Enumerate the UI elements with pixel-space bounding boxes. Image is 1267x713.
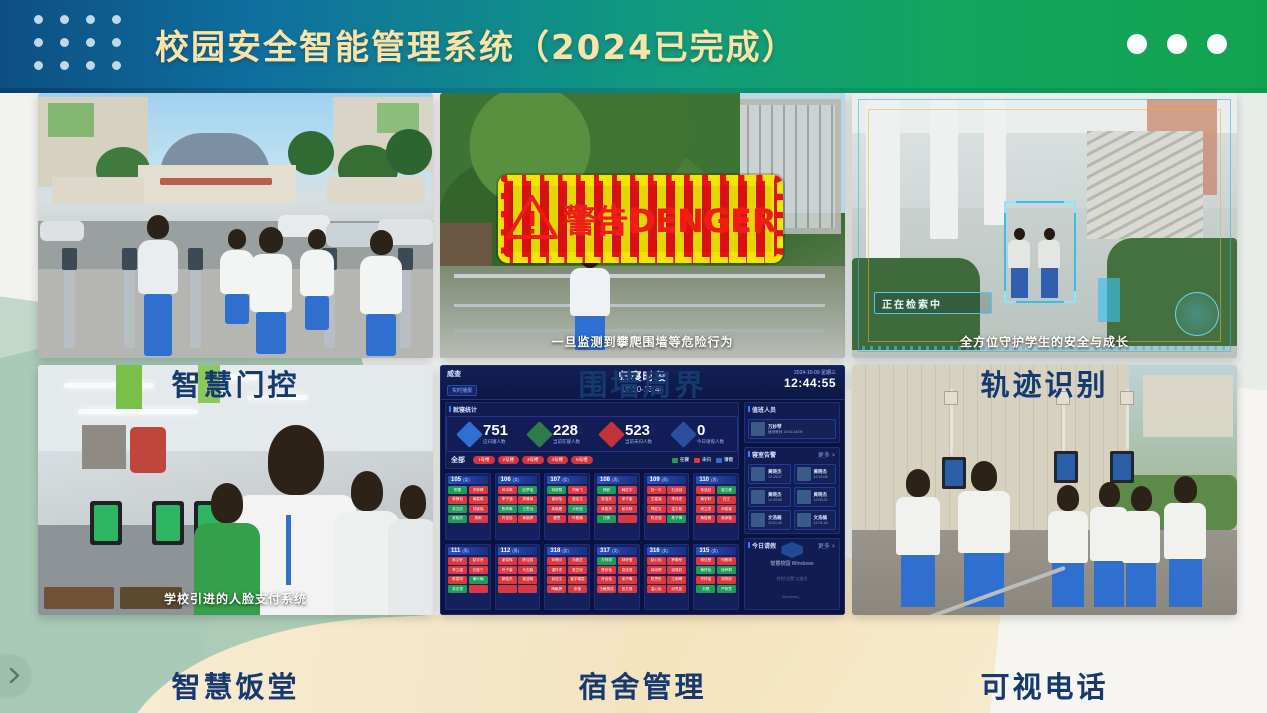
- room-unit: (男): [612, 477, 619, 482]
- dot-icon: [1207, 34, 1227, 54]
- bed-item[interactable]: 汪睿: [597, 515, 616, 523]
- bed-item[interactable]: 梁浩明: [518, 576, 537, 584]
- room-number: 106(女): [498, 476, 538, 484]
- bed-item[interactable]: 谭梓杰: [547, 566, 566, 574]
- leave-icon: [670, 421, 697, 448]
- avatar: [751, 490, 765, 504]
- bed-item[interactable]: 刘楚: [696, 585, 715, 593]
- alert-time: 12:05:32: [814, 498, 828, 502]
- bed-item[interactable]: 张一平: [647, 486, 666, 494]
- bed-item[interactable]: 石俊宁: [469, 566, 488, 574]
- bed-item[interactable]: 何雅琪: [717, 557, 736, 565]
- room-unit: (女): [513, 477, 520, 482]
- card-trajectory-recognition[interactable]: 正在检索中 全方位守护学生的安全与成长: [852, 93, 1237, 358]
- legend-label: 未归: [702, 457, 711, 463]
- legend: 在寝 未归 请假: [672, 457, 733, 463]
- bed-item[interactable]: 严梓萱: [717, 585, 736, 593]
- bed-item[interactable]: 曾宇甯霞: [568, 576, 587, 584]
- bed-item[interactable]: 许佳怡: [597, 576, 616, 584]
- bed-item[interactable]: 白江: [717, 496, 736, 504]
- warning-text: 警告DENGER: [565, 196, 777, 242]
- label-trajectory-recognition: 轨迹识别: [852, 358, 1237, 408]
- alerts-grid: 黄晓杰12:15:37黄晓杰12:15:08黄晓杰12:09:50黄晓杰12:0…: [745, 461, 839, 533]
- stat-value: 0: [697, 423, 724, 438]
- bed-item[interactable]: 朱浩然: [696, 486, 715, 494]
- filter-pill[interactable]: 1号楼: [473, 456, 495, 464]
- room-number: 110(男): [696, 476, 736, 484]
- room-card[interactable]: 316(女)赵心怡罗琳彤邱婉婷梁雅欣陈思彤江雨晴温心怡邓思蕊: [644, 544, 690, 611]
- bed-item[interactable]: 陈梓琳: [498, 505, 517, 513]
- room-number: 315(女): [696, 547, 736, 555]
- room-number: 111(男): [448, 547, 488, 555]
- alerts-panel-header: 寝室告警 更多 >: [745, 448, 839, 461]
- bed-item[interactable]: 温宇航: [667, 505, 686, 513]
- bed-item[interactable]: 朱莹: [568, 585, 587, 593]
- bed-item[interactable]: 邓倩仪: [547, 557, 566, 565]
- bed-list: 张一平石浩然王嘉诚李伟杰郑宏文温宇航陈志强蔡子锋: [647, 486, 687, 537]
- trajectory-overlay-caption: 全方位守护学生的安全与成长: [852, 333, 1237, 350]
- filter-pill[interactable]: 4号楼: [547, 456, 569, 464]
- smart-gate-photo: [38, 93, 433, 358]
- bed-item[interactable]: 林静怡: [448, 496, 467, 504]
- room-unit: (女): [562, 548, 569, 553]
- bed-item[interactable]: 张浩天: [597, 496, 616, 504]
- bed-item[interactable]: 张志恒: [448, 585, 467, 593]
- alert-time: 12:15:37: [768, 475, 782, 479]
- bed-item[interactable]: 崔文峰: [717, 486, 736, 494]
- bed-list: 邓倩仪冯雅芝谭梓杰夏芷欣彭佳文曾宇甯霞陶敏婷朱莹: [547, 557, 587, 608]
- dot-icon: [1167, 34, 1187, 54]
- bed-item[interactable]: 蔡子锋: [667, 515, 686, 523]
- bed-item[interactable]: 卢欣悦: [568, 505, 587, 513]
- bed-item[interactable]: 吴泽楷: [717, 515, 736, 523]
- bed-list: 何诗琪赵梦瑶李子涵郑雅琳陈梓琳王思远许佳怡黄婉婷: [498, 486, 538, 537]
- page-title: 校园安全智能管理系统（2024已完成）: [155, 20, 798, 69]
- alert-card[interactable]: 文浩楠12:01:18: [794, 510, 837, 530]
- room-card[interactable]: 317(女)方梓琪林梓莹曹欣怡袁佳慧许佳怡宋子琳王敏丽佳张文慧: [594, 544, 640, 611]
- stat-value: 751: [483, 423, 508, 438]
- bed-item[interactable]: 陈雪: [448, 486, 467, 494]
- bed-item[interactable]: 何诗琪: [498, 486, 517, 494]
- legend-item: 请假: [716, 457, 733, 463]
- alert-time: 12:01:18: [814, 521, 828, 525]
- room-number: 317(女): [597, 547, 637, 555]
- stat-item: 523 当前未归人数: [602, 423, 652, 445]
- alerts-header-text: 寝室告警: [752, 453, 776, 459]
- bed-item[interactable]: 孙俊豪: [717, 505, 736, 513]
- room-unit: (女): [711, 548, 718, 553]
- bed-item[interactable]: 赵梦瑶: [518, 486, 537, 494]
- bed-item[interactable]: 宋子琳: [618, 576, 637, 584]
- page-header: 校园安全智能管理系统（2024已完成）: [0, 0, 1267, 88]
- dot-icon: [1127, 34, 1147, 54]
- bed-item[interactable]: 黄梓怡: [696, 566, 715, 574]
- bed-item[interactable]: 郭俊杰: [498, 576, 517, 584]
- stat-label: 今日请假人数: [697, 439, 724, 445]
- room-number: 109(男): [647, 476, 687, 484]
- avatar: [797, 467, 811, 481]
- bed-item[interactable]: 王嘉诚: [647, 496, 666, 504]
- alerts-panel: 寝室告警 更多 > 黄晓杰12:15:37黄晓杰12:15:08黄晓杰12:09…: [744, 447, 840, 534]
- room-unit: (男): [512, 548, 519, 553]
- room-card[interactable]: 112(男)谢俊辉陈佳辰许子豪马志鹏郭俊杰梁浩明: [495, 544, 541, 611]
- room-card[interactable]: 109(男)张一平石浩然王嘉诚李伟杰郑宏文温宇航陈志强蔡子锋: [644, 473, 690, 540]
- bed-item[interactable]: 曹欣怡: [597, 566, 616, 574]
- room-card[interactable]: 106(女)何诗琪赵梦瑶李子涵郑雅琳陈梓琳王思远许佳怡黄婉婷: [495, 473, 541, 540]
- bed-item[interactable]: 刘颖瑶: [469, 505, 488, 513]
- canteen-overlay-caption: 学校引进的人脸支付系统: [38, 590, 433, 607]
- bed-item[interactable]: 李梓晴: [469, 486, 488, 494]
- wall-perimeter-overlay-caption: 一旦监测到攀爬围墙等危险行为: [440, 333, 845, 350]
- room-unit: (女): [562, 477, 569, 482]
- label-wall-perimeter: 围墙周界: [440, 358, 845, 408]
- stat-label: 当前未归人数: [625, 439, 652, 445]
- watermark-sub: 转到"设置"以激活 Windows。: [777, 576, 808, 599]
- filter-pill[interactable]: 2号楼: [498, 456, 520, 464]
- legend-label: 在寝: [680, 457, 689, 463]
- bed-list: 陈雪李梓晴林静怡黄嘉琪张文欣刘颖瑶吴晓彤周雨: [448, 486, 488, 537]
- room-number: 105(女): [448, 476, 488, 484]
- leave-panel: 今日请假 更多 > 智慧校园 Windows 转到"设置"以激活 Windows…: [744, 538, 840, 610]
- room-card[interactable]: 110(男)朱浩然崔文峰黄宇轩白江何立杰孙俊豪黄俊峰吴泽楷: [693, 473, 739, 540]
- card-smart-gate[interactable]: [38, 93, 433, 358]
- stat-item: 228 当前在寝人数: [530, 423, 580, 445]
- room-unit: (男): [662, 477, 669, 482]
- bed-item[interactable]: 彭宇轩: [618, 505, 637, 513]
- bed-list: 林佳慧何雅琪黄梓怡徐声桐齐梓瑶邓梓欣刘楚严梓萱: [696, 557, 736, 608]
- bed-item[interactable]: 叶筱楠: [568, 515, 587, 523]
- label-smart-canteen: 智慧饭堂: [38, 660, 433, 710]
- filter-pill[interactable]: 3号楼: [522, 456, 544, 464]
- room-number: 316(女): [647, 547, 687, 555]
- bed-list: 杨帆韩志宇张浩天邓子豪林俊杰彭宇轩汪睿: [597, 486, 637, 537]
- bed-item[interactable]: 黄俊峰: [696, 515, 715, 523]
- stats-panel: 就寝统计 751 应归寝人数 228: [445, 402, 739, 469]
- room-unit: (男): [462, 548, 469, 553]
- bed-item[interactable]: 江雨晴: [667, 576, 686, 584]
- bed-item[interactable]: 马志鹏: [518, 566, 537, 574]
- hud-bar: [1098, 278, 1120, 322]
- alert-card[interactable]: 黄晓杰12:09:50: [748, 487, 791, 507]
- bed-item[interactable]: 黄兴楠: [469, 576, 488, 584]
- room-card[interactable]: 105(女)陈雪李梓晴林静怡黄嘉琪张文欣刘颖瑶吴晓彤周雨: [445, 473, 491, 540]
- bed-item[interactable]: 王思远: [518, 505, 537, 513]
- bed-item[interactable]: 黄嘉琪: [469, 496, 488, 504]
- chevron-right-icon: [8, 667, 21, 684]
- bed-item[interactable]: 韩志宇: [618, 486, 637, 494]
- room-grid: 105(女)陈雪李梓晴林静怡黄嘉琪张文欣刘颖瑶吴晓彤周雨106(女)何诗琪赵梦瑶…: [445, 473, 739, 610]
- stat-item: 751 应归寝人数: [460, 423, 508, 445]
- bed-item[interactable]: 刘雨飞: [568, 486, 587, 494]
- bed-item[interactable]: 林文轩: [448, 557, 467, 565]
- room-card[interactable]: 315(女)林佳慧何雅琪黄梓怡徐声桐齐梓瑶邓梓欣刘楚严梓萱: [693, 544, 739, 611]
- room-card[interactable]: 111(男)林文轩赵宇杰李立强石俊宁陈嘉明黄兴楠张志恒: [445, 544, 491, 611]
- alert-icon: [598, 421, 625, 448]
- legend-label: 请假: [724, 457, 733, 463]
- room-card[interactable]: 318(女)邓倩仪冯雅芝谭梓杰夏芷欣彭佳文曾宇甯霞陶敏婷朱莹: [544, 544, 590, 611]
- warning-triangle-icon: [505, 193, 559, 246]
- bed-item[interactable]: 杨帆: [597, 486, 616, 494]
- bed-item[interactable]: 唐思: [547, 515, 566, 523]
- bed-list: 谢俊辉陈佳辰许子豪马志鹏郭俊杰梁浩明: [498, 557, 538, 608]
- bed-icon: [526, 421, 553, 448]
- bed-item[interactable]: 赵宇杰: [469, 557, 488, 565]
- duty-person-meta: 值班教师 13:00-18:00: [768, 430, 803, 435]
- bed-item[interactable]: 谢欣怡: [547, 496, 566, 504]
- bed-item[interactable]: 周雨: [469, 515, 488, 523]
- room-unit: (男): [711, 477, 718, 482]
- bed-list: 林妍熙刘雨飞谢欣怡庞佳文朱晓蕾卢欣悦唐思叶筱楠: [547, 486, 587, 537]
- bed-item[interactable]: 温心怡: [647, 585, 666, 593]
- legend-item: 未归: [694, 457, 711, 463]
- cube-icon: [781, 542, 803, 558]
- hud-status-box: 正在检索中: [874, 292, 992, 314]
- bed-item[interactable]: 李子涵: [498, 496, 517, 504]
- bed-item[interactable]: 陈佳辰: [518, 557, 537, 565]
- warning-banner: 警告DENGER: [498, 175, 783, 263]
- label-smart-gate: 智慧门控: [38, 358, 433, 408]
- bed-item[interactable]: 邓子豪: [618, 496, 637, 504]
- bed-item[interactable]: 王敏丽佳: [597, 585, 616, 593]
- bed-item[interactable]: 许子豪: [498, 566, 517, 574]
- bed-item[interactable]: 林佳慧: [696, 557, 715, 565]
- hud-radar-icon: [1175, 292, 1219, 336]
- room-unit: (女): [463, 477, 470, 482]
- bed-item[interactable]: 彭佳文: [547, 576, 566, 584]
- hud-status-text: 正在检索中: [882, 296, 942, 311]
- room-number: 318(女): [547, 547, 587, 555]
- bed-item[interactable]: [469, 585, 488, 593]
- bed-item[interactable]: 陈志强: [647, 515, 666, 523]
- alert-time: 12:15:08: [814, 475, 828, 479]
- bed-item[interactable]: 陈嘉明: [448, 576, 467, 584]
- stat-item: 0 今日请假人数: [674, 423, 724, 445]
- bed-item[interactable]: 庞佳文: [568, 496, 587, 504]
- bed-item[interactable]: 陈思彤: [647, 576, 666, 584]
- room-number: 107(女): [547, 476, 587, 484]
- alert-card[interactable]: 黄晓杰12:15:37: [748, 464, 791, 484]
- hud-tracking-box: [1004, 201, 1076, 303]
- stat-value: 523: [625, 423, 652, 438]
- trajectory-photo: 正在检索中 全方位守护学生的安全与成长: [852, 93, 1237, 358]
- bed-item[interactable]: 黄婉婷: [518, 515, 537, 523]
- card-wall-perimeter[interactable]: 警告DENGER 一旦监测到攀爬围墙等危险行为: [440, 93, 845, 358]
- bed-list: 赵心怡罗琳彤邱婉婷梁雅欣陈思彤江雨晴温心怡邓思蕊: [647, 557, 687, 608]
- stat-label: 应归寝人数: [483, 439, 508, 445]
- wall-perimeter-photo: 警告DENGER 一旦监测到攀爬围墙等危险行为: [440, 93, 845, 358]
- filter-all[interactable]: 全部: [451, 455, 465, 465]
- bed-list: 方梓琪林梓莹曹欣怡袁佳慧许佳怡宋子琳王敏丽佳张文慧: [597, 557, 637, 608]
- alert-card[interactable]: 黄晓杰12:15:08: [794, 464, 837, 484]
- label-dormitory-management: 宿舍管理: [440, 660, 845, 710]
- bed-item[interactable]: [498, 585, 517, 593]
- alert-time: 12:01:40: [768, 521, 782, 525]
- alerts-more-link[interactable]: 更多 >: [818, 450, 835, 459]
- bed-item[interactable]: 李伟杰: [667, 496, 686, 504]
- alert-card[interactable]: 黄晓杰12:05:32: [794, 487, 837, 507]
- room-unit: (女): [612, 548, 619, 553]
- bed-item[interactable]: 梁雅欣: [667, 566, 686, 574]
- bed-item[interactable]: 李立强: [448, 566, 467, 574]
- bed-item[interactable]: 齐梓瑶: [696, 576, 715, 584]
- legend-item: 在寝: [672, 457, 689, 463]
- avatar: [751, 422, 765, 436]
- dorm-icon: [456, 421, 483, 448]
- bed-item[interactable]: 夏芷欣: [568, 566, 587, 574]
- avatar: [797, 513, 811, 527]
- bed-item[interactable]: 邓梓欣: [717, 576, 736, 584]
- stats-row: 751 应归寝人数 228 当前在寝人数: [446, 416, 738, 452]
- bed-item[interactable]: 张文欣: [448, 505, 467, 513]
- alert-time: 12:09:50: [768, 498, 782, 502]
- bed-item[interactable]: 黄宇轩: [696, 496, 715, 504]
- bed-item[interactable]: 何立杰: [696, 505, 715, 513]
- bed-item[interactable]: 邓思蕊: [667, 585, 686, 593]
- windows-watermark: 智慧校园 Windows 转到"设置"以激活 Windows。: [769, 542, 816, 603]
- bed-list: 朱浩然崔文峰黄宇轩白江何立杰孙俊豪黄俊峰吴泽楷: [696, 486, 736, 537]
- duty-panel: 值班人员 万妙琴 值班教师 13:00-18:00: [744, 402, 840, 443]
- bed-item[interactable]: 张文慧: [618, 585, 637, 593]
- bed-item[interactable]: 郑雅琳: [518, 496, 537, 504]
- bed-item[interactable]: 方梓琪: [597, 557, 616, 565]
- avatar: [797, 490, 811, 504]
- bed-item[interactable]: 林俊杰: [597, 505, 616, 513]
- leave-more-link[interactable]: 更多 >: [818, 541, 835, 550]
- room-unit: (女): [662, 548, 669, 553]
- bed-item[interactable]: 林妍熙: [547, 486, 566, 494]
- filter-row[interactable]: 全部 1号楼 2号楼 3号楼 4号楼 5号楼 在寝 未归 请假: [446, 452, 738, 468]
- bed-item[interactable]: 罗琳彤: [667, 557, 686, 565]
- room-card[interactable]: 107(女)林妍熙刘雨飞谢欣怡庞佳文朱晓蕾卢欣悦唐思叶筱楠: [544, 473, 590, 540]
- bed-item[interactable]: 冯雅芝: [568, 557, 587, 565]
- dot-grid-icon: [34, 15, 125, 74]
- bed-item[interactable]: 袁佳慧: [618, 566, 637, 574]
- filter-pill[interactable]: 5号楼: [571, 456, 593, 464]
- avatar: [751, 467, 765, 481]
- room-number: 112(男): [498, 547, 538, 555]
- bed-list: 林文轩赵宇杰李立强石俊宁陈嘉明黄兴楠张志恒: [448, 557, 488, 608]
- watermark-title: 智慧校园 Windows: [769, 560, 816, 567]
- stat-label: 当前在寝人数: [553, 439, 580, 445]
- bed-item[interactable]: 朱晓蕾: [547, 505, 566, 513]
- bed-item[interactable]: 许佳怡: [498, 515, 517, 523]
- bed-item[interactable]: 谢俊辉: [498, 557, 517, 565]
- duty-person-card[interactable]: 万妙琴 值班教师 13:00-18:00: [748, 419, 836, 439]
- bed-item[interactable]: 徐声桐: [717, 566, 736, 574]
- alert-card[interactable]: 文浩楠12:01:40: [748, 510, 791, 530]
- bed-item[interactable]: 吴晓彤: [448, 515, 467, 523]
- bed-item[interactable]: 郑宏文: [647, 505, 666, 513]
- label-video-phone: 可视电话: [852, 660, 1237, 710]
- stat-value: 228: [553, 423, 580, 438]
- bed-item[interactable]: 林梓莹: [618, 557, 637, 565]
- bed-item[interactable]: [518, 585, 537, 593]
- avatar: [751, 513, 765, 527]
- room-number: 108(男): [597, 476, 637, 484]
- room-card[interactable]: 108(男)杨帆韩志宇张浩天邓子豪林俊杰彭宇轩汪睿: [594, 473, 640, 540]
- header-dots-right: [1127, 34, 1227, 54]
- bed-item[interactable]: [618, 515, 637, 523]
- header-underline: [0, 88, 1267, 93]
- bed-item[interactable]: 石浩然: [667, 486, 686, 494]
- bed-item[interactable]: 邱婉婷: [647, 566, 666, 574]
- bed-item[interactable]: 陶敏婷: [547, 585, 566, 593]
- bed-item[interactable]: 赵心怡: [647, 557, 666, 565]
